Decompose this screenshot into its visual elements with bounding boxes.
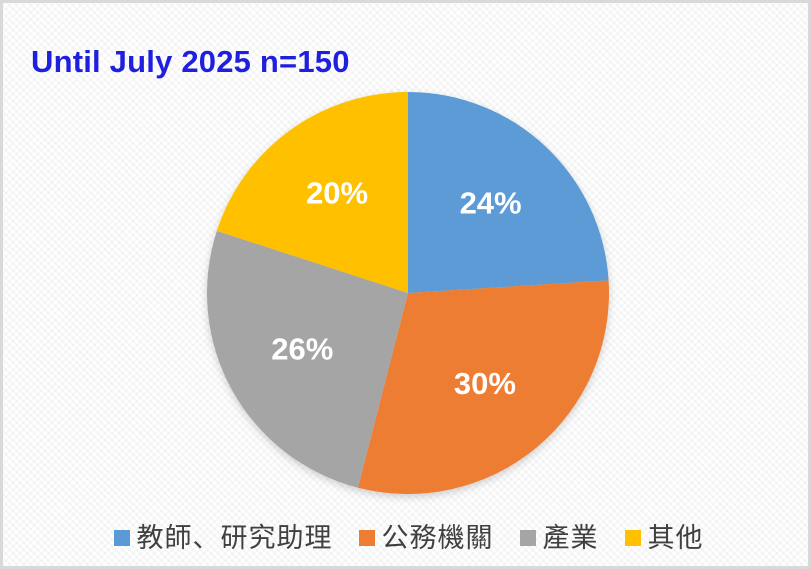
legend-swatch-icon: [625, 530, 641, 546]
legend-item[interactable]: 教師、研究助理: [114, 525, 333, 552]
pie-slice-label: 24%: [460, 185, 522, 220]
legend-swatch-icon: [114, 530, 130, 546]
legend-item[interactable]: 公務機關: [359, 525, 494, 552]
legend-item[interactable]: 其他: [625, 525, 704, 552]
pie-slice-group: [207, 92, 609, 494]
pie-chart: 24%30%26%20%: [3, 3, 811, 569]
legend-item-label: 產業: [543, 525, 599, 552]
legend-item-label: 公務機關: [382, 525, 494, 552]
pie-svg: 24%30%26%20%: [3, 3, 811, 569]
chart-frame: Until July 2025 n=150 24%30%26%20% 教師、研究…: [0, 0, 811, 569]
pie-slice-label: 20%: [306, 176, 368, 211]
legend-item-label: 教師、研究助理: [137, 525, 333, 552]
legend-item-label: 其他: [648, 525, 704, 552]
legend-swatch-icon: [359, 530, 375, 546]
chart-legend: 教師、研究助理 公務機關 產業 其他: [3, 515, 811, 561]
legend-swatch-icon: [520, 530, 536, 546]
legend-item[interactable]: 產業: [520, 525, 599, 552]
pie-slice-label: 30%: [454, 366, 516, 401]
pie-slice-label: 26%: [271, 331, 333, 366]
